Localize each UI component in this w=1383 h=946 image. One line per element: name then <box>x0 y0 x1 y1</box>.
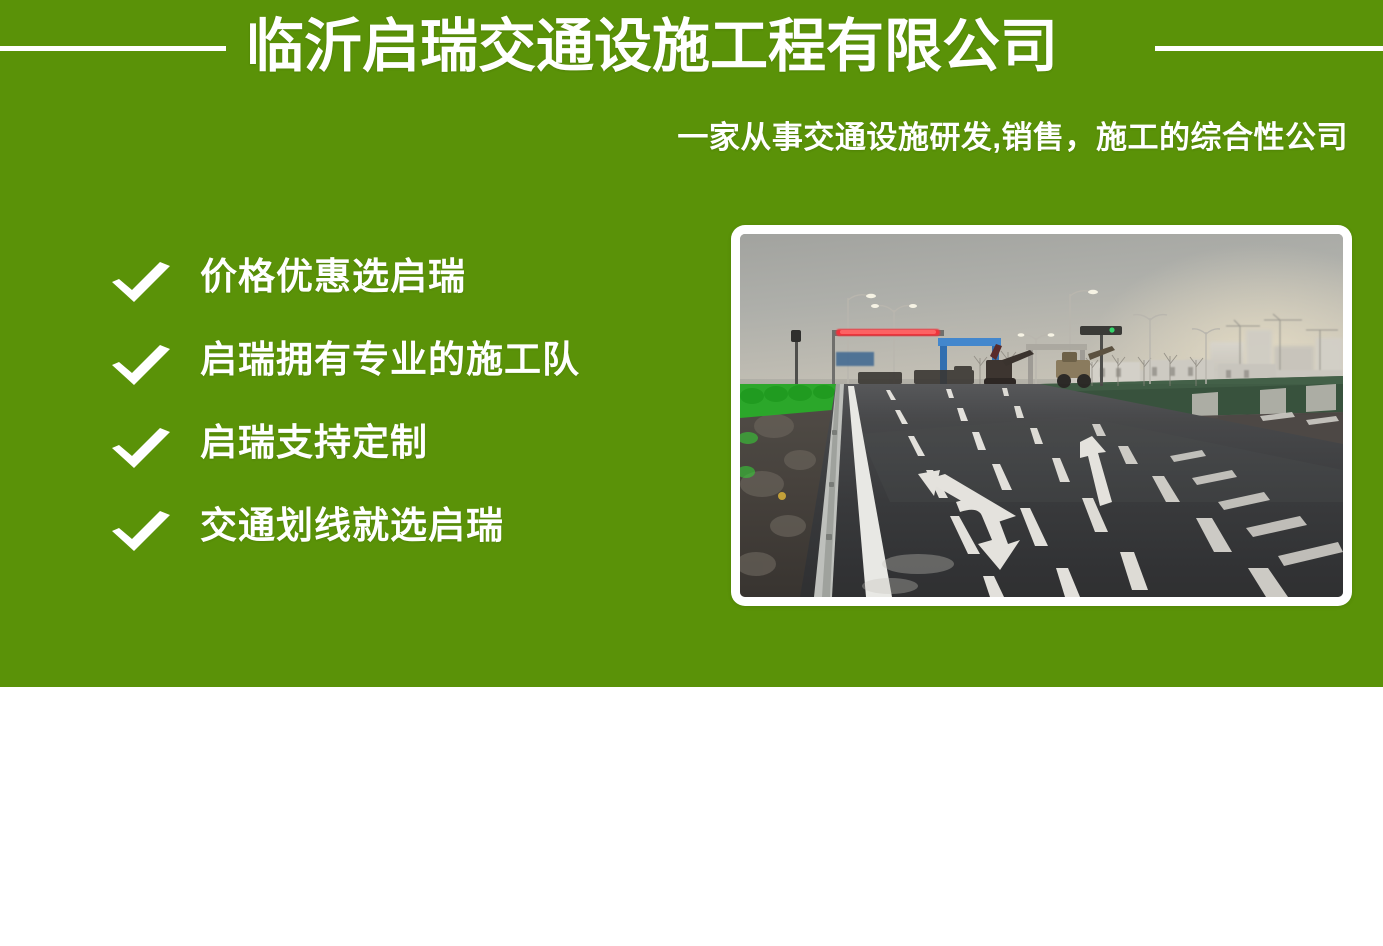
check-icon <box>110 260 172 306</box>
road-marking-project-photo <box>740 234 1343 597</box>
list-item-label: 交通划线就选启瑞 <box>200 501 504 551</box>
list-item: 价格优惠选启瑞 <box>110 252 710 335</box>
company-tagline: 一家从事交通设施研发,销售，施工的综合性公司 <box>677 117 1348 159</box>
list-item-label: 价格优惠选启瑞 <box>200 252 466 302</box>
list-item: 启瑞支持定制 <box>110 418 710 501</box>
signal-head-left <box>791 330 801 386</box>
machinery-cluster <box>858 366 974 384</box>
excavator <box>984 344 1034 386</box>
list-item-label: 启瑞支持定制 <box>200 418 428 468</box>
photo-frame <box>731 225 1352 606</box>
company-title: 临沂启瑞交通设施工程有限公司 <box>246 13 1146 81</box>
title-rule-left-icon <box>0 46 226 51</box>
list-item: 启瑞拥有专业的施工队 <box>110 335 710 418</box>
road-sign-board <box>836 352 874 366</box>
check-icon <box>110 426 172 472</box>
feature-list: 价格优惠选启瑞 启瑞拥有专业的施工队 启瑞支持定制 <box>110 252 710 584</box>
check-icon <box>110 343 172 389</box>
poster-canvas: 临沂启瑞交通设施工程有限公司 一家从事交通设施研发,销售，施工的综合性公司 价格… <box>0 0 1383 946</box>
road-scene-illustration <box>740 234 1343 597</box>
check-icon <box>110 509 172 555</box>
title-rule-right-icon <box>1155 46 1383 51</box>
list-item: 交通划线就选启瑞 <box>110 501 710 584</box>
list-item-label: 启瑞拥有专业的施工队 <box>200 335 580 385</box>
